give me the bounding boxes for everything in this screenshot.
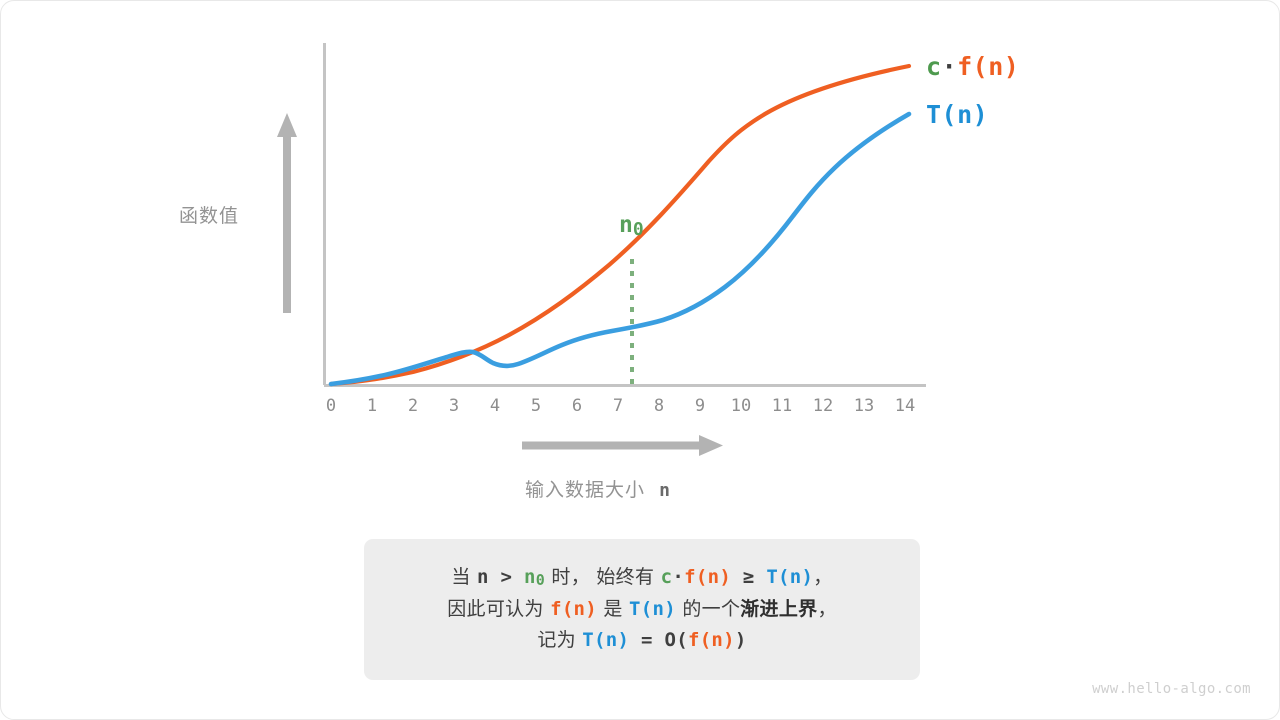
x-tick-label: 5 <box>531 396 541 416</box>
curve-label-fn: f(n) <box>957 52 1019 81</box>
x-tick-label: 3 <box>449 396 459 416</box>
x-axis-label: 输入数据大小 n <box>525 475 671 502</box>
caption-token: T(n) <box>766 566 813 588</box>
caption-token: ， <box>817 598 836 620</box>
x-axis-direction-arrow <box>522 435 723 456</box>
y-axis-label: 函数值 <box>179 201 239 228</box>
caption-token: · <box>672 566 684 588</box>
caption-token: 的一个 <box>676 598 740 620</box>
x-tick-label: 9 <box>695 396 705 416</box>
caption-token: f(n) <box>684 566 731 588</box>
caption-box: 当 n > n0 时， 始终有 c·f(n) ≥ T(n)， 因此可认为 f(n… <box>364 539 920 680</box>
caption-line-2: 因此可认为 f(n) 是 T(n) 的一个渐进上界， <box>447 598 837 622</box>
caption-token: T(n) <box>582 629 629 651</box>
x-axis-label-variable: n <box>659 480 671 501</box>
x-tick-label: 1 <box>367 396 377 416</box>
caption-token: > <box>489 566 524 588</box>
curve-label-constant-c: c <box>926 52 942 81</box>
x-tick-label: 12 <box>813 396 833 416</box>
caption-line-1: 当 n > n0 时， 始终有 c·f(n) ≥ T(n)， <box>451 566 832 590</box>
caption-token: ≥ <box>731 566 766 588</box>
caption-token: f(n) <box>550 598 597 620</box>
caption-line-3: 记为 T(n) = O(f(n)) <box>537 629 746 653</box>
n0-marker-label: n0 <box>619 212 644 240</box>
caption-token: 渐进上界 <box>740 598 817 620</box>
x-tick-label: 0 <box>326 396 336 416</box>
x-tick-label: 4 <box>490 396 500 416</box>
caption-token: c <box>661 566 673 588</box>
x-tick-label: 10 <box>731 396 751 416</box>
x-axis-label-text: 输入数据大小 <box>525 479 645 501</box>
caption-token: ) <box>735 629 747 651</box>
n0-marker-label-subscript: 0 <box>633 219 644 240</box>
n0-marker-label-base: n <box>619 212 633 238</box>
figure-canvas: 函数值 输入数据大小 n 01234567891011121314 c·f(n)… <box>0 0 1280 720</box>
x-tick-label: 14 <box>895 396 915 416</box>
x-tick-label: 11 <box>772 396 792 416</box>
caption-token: 是 <box>597 598 629 620</box>
caption-token: f(n) <box>688 629 735 651</box>
curve-tn <box>331 114 909 384</box>
x-tick-label: 6 <box>572 396 582 416</box>
curve-label-tn: T(n) <box>926 100 988 129</box>
caption-token: O( <box>664 629 687 651</box>
caption-token: n <box>477 566 489 588</box>
x-tick-label: 7 <box>613 396 623 416</box>
x-tick-label: 2 <box>408 396 418 416</box>
caption-token: T(n) <box>629 598 676 620</box>
x-axis-tick-labels: 01234567891011121314 <box>324 396 926 422</box>
caption-token: 时， 始终有 <box>545 566 661 588</box>
y-axis-direction-arrow <box>277 113 297 313</box>
watermark: www.hello-algo.com <box>1092 681 1251 697</box>
curve-label-multiply-dot: · <box>942 52 958 81</box>
caption-token: 记为 <box>537 629 582 651</box>
caption-token: n0 <box>524 566 545 588</box>
x-tick-label: 13 <box>854 396 874 416</box>
caption-token: ， <box>813 566 832 588</box>
curve-label-c-fn: c·f(n) <box>926 52 1019 81</box>
caption-token: 当 <box>451 566 477 588</box>
x-tick-label: 8 <box>654 396 664 416</box>
caption-token: = <box>629 629 664 651</box>
caption-token: 因此可认为 <box>447 598 550 620</box>
